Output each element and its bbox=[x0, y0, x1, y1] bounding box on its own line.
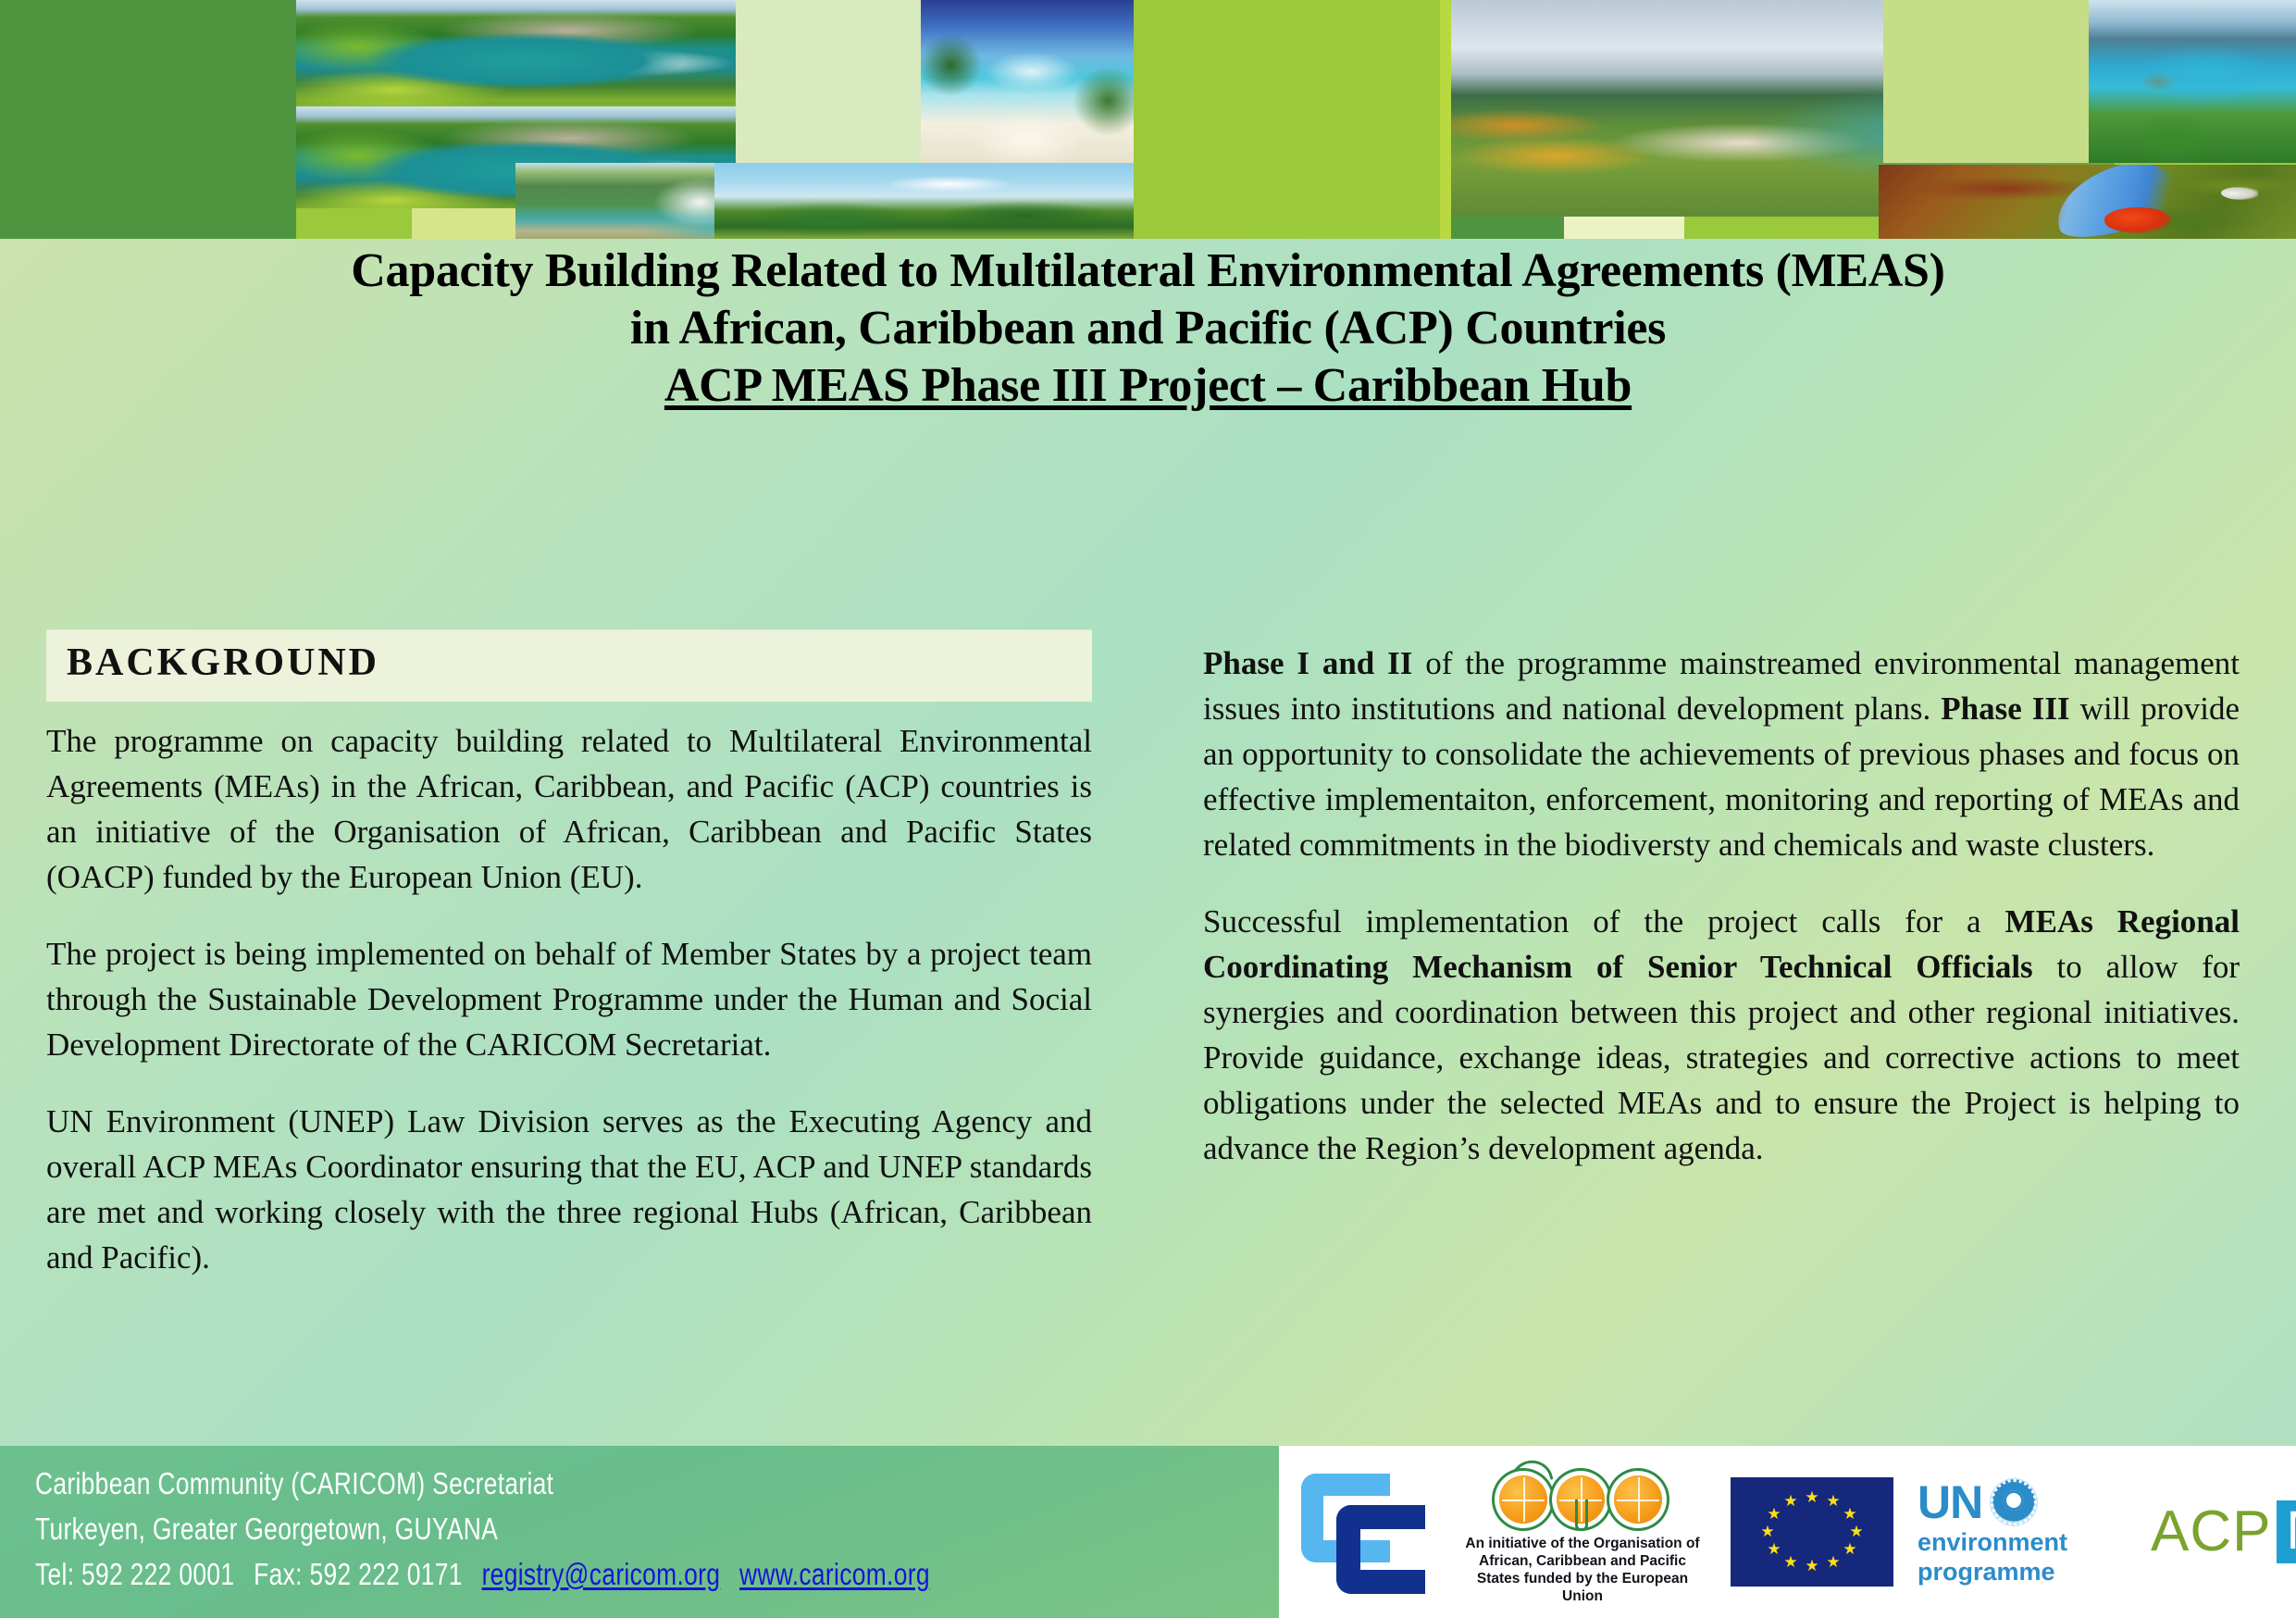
oacp-logo-icon: An initiative of the Organisation of Afr… bbox=[1458, 1459, 1706, 1605]
acpmeas-acp-text: ACP bbox=[2151, 1503, 2271, 1561]
oacp-globe-1-icon bbox=[1499, 1475, 1547, 1524]
header-color-block-dark-green-left bbox=[0, 0, 296, 239]
title-line-2: in African, Caribbean and Pacific (ACP) … bbox=[0, 300, 2296, 357]
header-photo-mosaic bbox=[0, 0, 2296, 239]
footer: Caribbean Community (CARICOM) Secretaria… bbox=[0, 1446, 2296, 1618]
unep-environment-text: environment bbox=[1917, 1528, 2127, 1556]
header-color-block-lime-1 bbox=[296, 208, 412, 239]
macaw-body bbox=[2104, 207, 2171, 232]
footer-email-link[interactable]: registry@caricom.org bbox=[482, 1557, 721, 1591]
header-color-block-lime-2 bbox=[1134, 0, 1458, 239]
unep-un-text: UN bbox=[1917, 1479, 1982, 1525]
acpmeas-badge: MEAs 3 bbox=[2277, 1500, 2296, 1563]
header-color-block-pale-green-1 bbox=[736, 0, 921, 163]
header-color-block-pale-lime-1 bbox=[412, 208, 515, 239]
phases-paragraph: Phase I and II of the programme mainstre… bbox=[1203, 641, 2240, 867]
poster-root: Capacity Building Related to Multilatera… bbox=[0, 0, 2296, 1618]
footer-contact-row: Tel: 592 222 0001Fax: 592 222 0171regist… bbox=[35, 1551, 930, 1597]
left-column: BACKGROUND The programme on capacity bui… bbox=[46, 629, 1092, 1280]
background-heading-label: BACKGROUND bbox=[67, 641, 1092, 685]
header-image-island-bay bbox=[2089, 0, 2296, 163]
header-image-macaw bbox=[1879, 165, 2296, 239]
caricom-inner-c-shape bbox=[1336, 1505, 1425, 1594]
caricom-logo-icon bbox=[1296, 1466, 1434, 1598]
acp-meas-3-logo-icon: ACP MEAs 3 bbox=[2151, 1500, 2296, 1563]
un-globe-laurel-icon bbox=[1990, 1478, 2038, 1526]
macaw-beak bbox=[2221, 187, 2259, 200]
acpmeas-meas-text: MEAs bbox=[2286, 1504, 2296, 1558]
header-color-block-pale-cream-1 bbox=[1564, 217, 1684, 239]
header-color-block-pale-lime-2 bbox=[1883, 0, 2089, 163]
page-title: Capacity Building Related to Multilatera… bbox=[0, 243, 2296, 415]
unep-programme-text: programme bbox=[1917, 1558, 2127, 1586]
footer-website-link[interactable]: www.caricom.org bbox=[739, 1557, 930, 1591]
oacp-globes-mark bbox=[1496, 1459, 1669, 1531]
footer-org-name: Caribbean Community (CARICOM) Secretaria… bbox=[35, 1461, 930, 1506]
header-image-beach-sand bbox=[921, 0, 1134, 163]
footer-address: Turkeyen, Greater Georgetown, GUYANA bbox=[35, 1506, 930, 1551]
background-heading-box: BACKGROUND bbox=[46, 629, 1092, 702]
mechanism-par-start: Successful implementation of the project… bbox=[1203, 903, 2005, 940]
title-line-1: Capacity Building Related to Multilatera… bbox=[0, 243, 2296, 300]
header-image-palms-sky bbox=[714, 163, 1134, 239]
phase-i-ii-bold: Phase I and II bbox=[1203, 645, 1412, 681]
right-column: Phase I and II of the programme mainstre… bbox=[1203, 641, 2240, 1171]
oacp-globe-3-icon bbox=[1614, 1475, 1662, 1524]
header-color-block-dark-green-2 bbox=[1448, 217, 1564, 239]
background-paragraph-3: UN Environment (UNEP) Law Division serve… bbox=[46, 1099, 1092, 1280]
header-image-lagoon bbox=[296, 0, 736, 102]
background-paragraph-2: The project is being implemented on beha… bbox=[46, 931, 1092, 1067]
phase-iii-bold: Phase III bbox=[1941, 691, 2069, 727]
european-union-flag-icon: ★ ★ ★ ★ ★ ★ ★ ★ ★ ★ ★ ★ bbox=[1731, 1477, 1893, 1587]
oacp-stem-stroke bbox=[1575, 1500, 1588, 1531]
body-content: BACKGROUND The programme on capacity bui… bbox=[0, 629, 2296, 1425]
footer-tel: Tel: 592 222 0001 bbox=[35, 1557, 234, 1591]
background-paragraph-1: The programme on capacity building relat… bbox=[46, 718, 1092, 900]
title-line-3: ACP MEAS Phase III Project – Caribbean H… bbox=[0, 357, 2296, 415]
footer-logo-strip: An initiative of the Organisation of Afr… bbox=[1279, 1446, 2296, 1618]
unep-wordmark-top: UN bbox=[1917, 1478, 2127, 1526]
footer-fax: Fax: 592 222 0171 bbox=[254, 1557, 463, 1591]
header-color-block-lime-divider bbox=[1440, 0, 1451, 239]
unep-logo-icon: UN environment programme bbox=[1917, 1478, 2127, 1586]
oacp-caption-text: An initiative of the Organisation of Afr… bbox=[1458, 1535, 1706, 1605]
mechanism-paragraph: Successful implementation of the project… bbox=[1203, 899, 2240, 1171]
footer-contact-block: Caribbean Community (CARICOM) Secretaria… bbox=[35, 1461, 930, 1597]
